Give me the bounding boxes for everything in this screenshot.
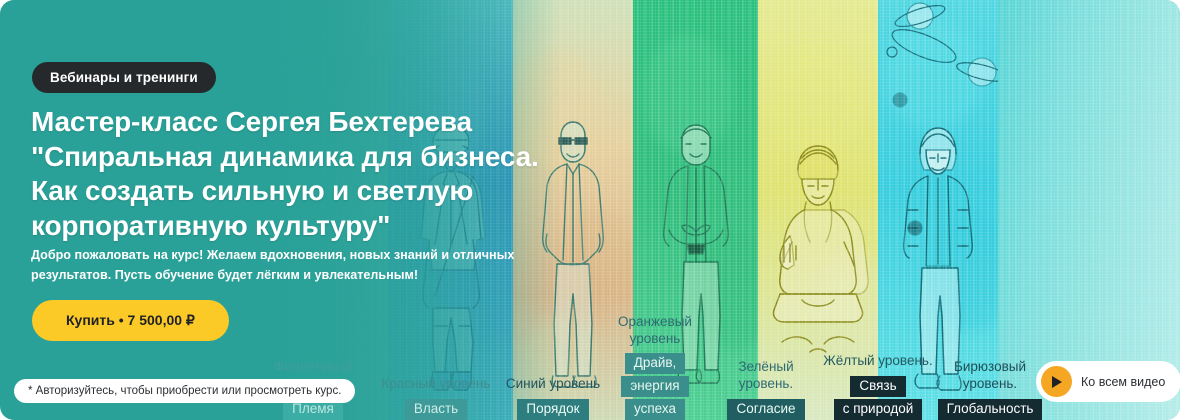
course-description: Добро пожаловать на курс! Желаем вдохнов…	[31, 246, 531, 285]
page-title: Мастер-класс Сергея Бехтерева "Спиральна…	[31, 105, 551, 244]
buy-button[interactable]: Купить • 7 500,00 ₽	[32, 300, 229, 341]
hero-content: Вебинары и тренинги Мастер-класс Сергея …	[0, 0, 1180, 420]
course-hero-banner: Фиолетовый уровень Племя Красный уровень…	[0, 0, 1180, 420]
category-badge: Вебинары и тренинги	[32, 62, 216, 93]
auth-note: * Авторизуйтесь, чтобы приобрести или пр…	[14, 379, 355, 403]
all-videos-button[interactable]: Ко всем видео	[1036, 361, 1180, 402]
all-videos-label: Ко всем видео	[1081, 375, 1165, 389]
play-icon	[1041, 366, 1072, 397]
